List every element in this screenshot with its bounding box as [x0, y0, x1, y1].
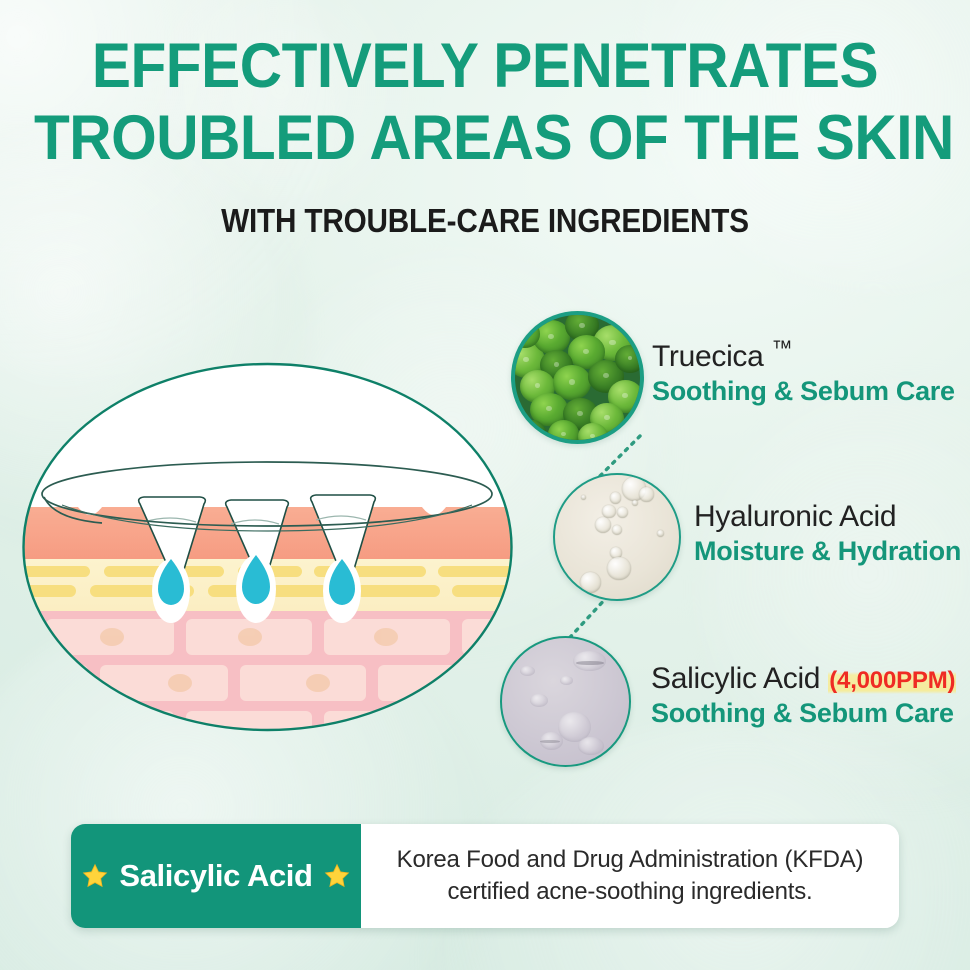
banner-note: Korea Food and Drug Administration (KFDA…	[361, 824, 899, 928]
ingredient-label-hyaluronic-acid: Hyaluronic Acid Moisture & Hydration	[694, 500, 961, 567]
headline-line-1: EFFECTIVELY PENETRATES	[34, 0, 936, 98]
ingredient-name: Salicylic Acid (4,000PPM)	[651, 662, 956, 695]
headline-group: EFFECTIVELY PENETRATES TROUBLED AREAS OF…	[0, 0, 970, 240]
ingredient-name: Truecica ™	[652, 337, 955, 373]
certification-banner: Salicylic Acid Korea Food and Drug Admin…	[71, 824, 899, 928]
headline-subtitle: WITH TROUBLE-CARE INGREDIENTS	[49, 169, 922, 240]
headline-line-2: TROUBLED AREAS OF THE SKIN	[34, 98, 936, 170]
star-icon	[82, 863, 108, 889]
gel-bubbles-icon	[555, 475, 679, 599]
diagram-layers	[0, 363, 542, 741]
ingredient-label-truecica: Truecica ™ Soothing & Sebum Care	[652, 337, 955, 407]
banner-note-line-2: certified acne-soothing ingredients.	[447, 876, 812, 908]
ingredient-image-salicylic-acid	[500, 636, 631, 767]
ingredient-benefit: Soothing & Sebum Care	[652, 377, 955, 407]
ingredient-name: Hyaluronic Acid	[694, 500, 961, 533]
banner-badge-label: Salicylic Acid	[119, 858, 312, 894]
infographic-canvas: EFFECTIVELY PENETRATES TROUBLED AREAS OF…	[0, 0, 970, 970]
ingredient-label-salicylic-acid: Salicylic Acid (4,000PPM) Soothing & Seb…	[651, 662, 956, 729]
skin-cross-section-diagram	[22, 363, 513, 731]
banner-note-line-1: Korea Food and Drug Administration (KFDA…	[397, 844, 864, 876]
star-icon	[324, 863, 350, 889]
ingredient-image-hyaluronic-acid	[553, 473, 681, 601]
clear-gel-texture-icon	[502, 638, 629, 765]
background-bubble	[700, 380, 970, 800]
trademark-symbol: ™	[772, 337, 793, 360]
centella-leaves-icon	[515, 315, 640, 440]
banner-badge: Salicylic Acid	[71, 824, 361, 928]
ingredient-benefit: Soothing & Sebum Care	[651, 699, 956, 729]
ingredient-image-truecica	[511, 311, 644, 444]
concentration-badge: (4,000PPM)	[828, 667, 956, 694]
ingredient-benefit: Moisture & Hydration	[694, 537, 961, 567]
